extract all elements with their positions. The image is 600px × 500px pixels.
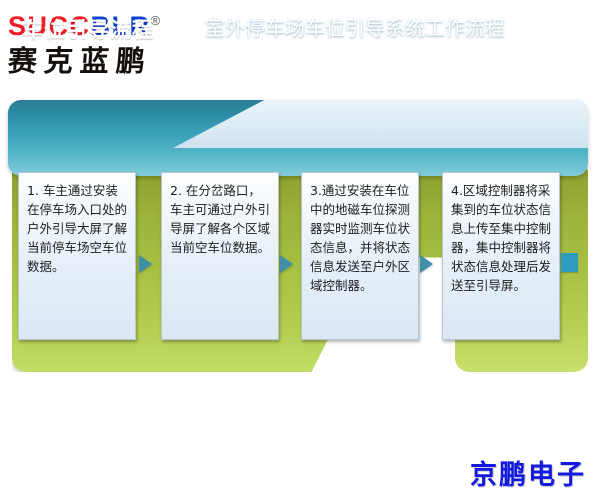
flow-step-text: 4.区域控制器将采集到的车位状态信息上传至集中控制器，集中控制器将状态信息处理后…	[443, 173, 559, 295]
flow-step-box: 3.通过安装在车位中的地磁车位探测器实时监测车位状态信息，并将状态信息发送至户外…	[301, 172, 419, 340]
flow-step-text: 3.通过安装在车位中的地磁车位探测器实时监测车位状态信息，并将状态信息发送至户外…	[302, 173, 418, 295]
logo-chinese-name: 赛克蓝鹏	[7, 43, 230, 79]
flow-arrow-right-icon	[420, 255, 433, 273]
header-banner	[8, 100, 588, 176]
page-title: 室外停车场车位引导系统工作流程	[205, 12, 505, 41]
flow-step-box: 2. 在分岔路口，车主可通过户外引导屏了解各个区域当前空车位数据。	[161, 172, 279, 340]
header-tab-label: 车位引导流程	[22, 14, 154, 44]
header-light-wedge	[173, 100, 588, 148]
flow-step-text: 1. 车主通过安装在停车场入口处的户外引导大屏了解当前停车场空车位数据。	[19, 173, 135, 276]
flow-step-text: 2. 在分岔路口，车主可通过户外引导屏了解各个区域当前空车位数据。	[162, 173, 278, 257]
flow-arrow-right-icon	[280, 255, 293, 273]
flow-arrow-right-icon	[139, 255, 152, 273]
footer-brand: 京鹏电子	[470, 453, 586, 492]
flow-step-box: 1. 车主通过安装在停车场入口处的户外引导大屏了解当前停车场空车位数据。	[18, 172, 136, 340]
flow-step-box: 4.区域控制器将采集到的车位状态信息上传至集中控制器，集中控制器将状态信息处理后…	[442, 172, 560, 340]
flow-end-square-icon	[561, 253, 578, 272]
